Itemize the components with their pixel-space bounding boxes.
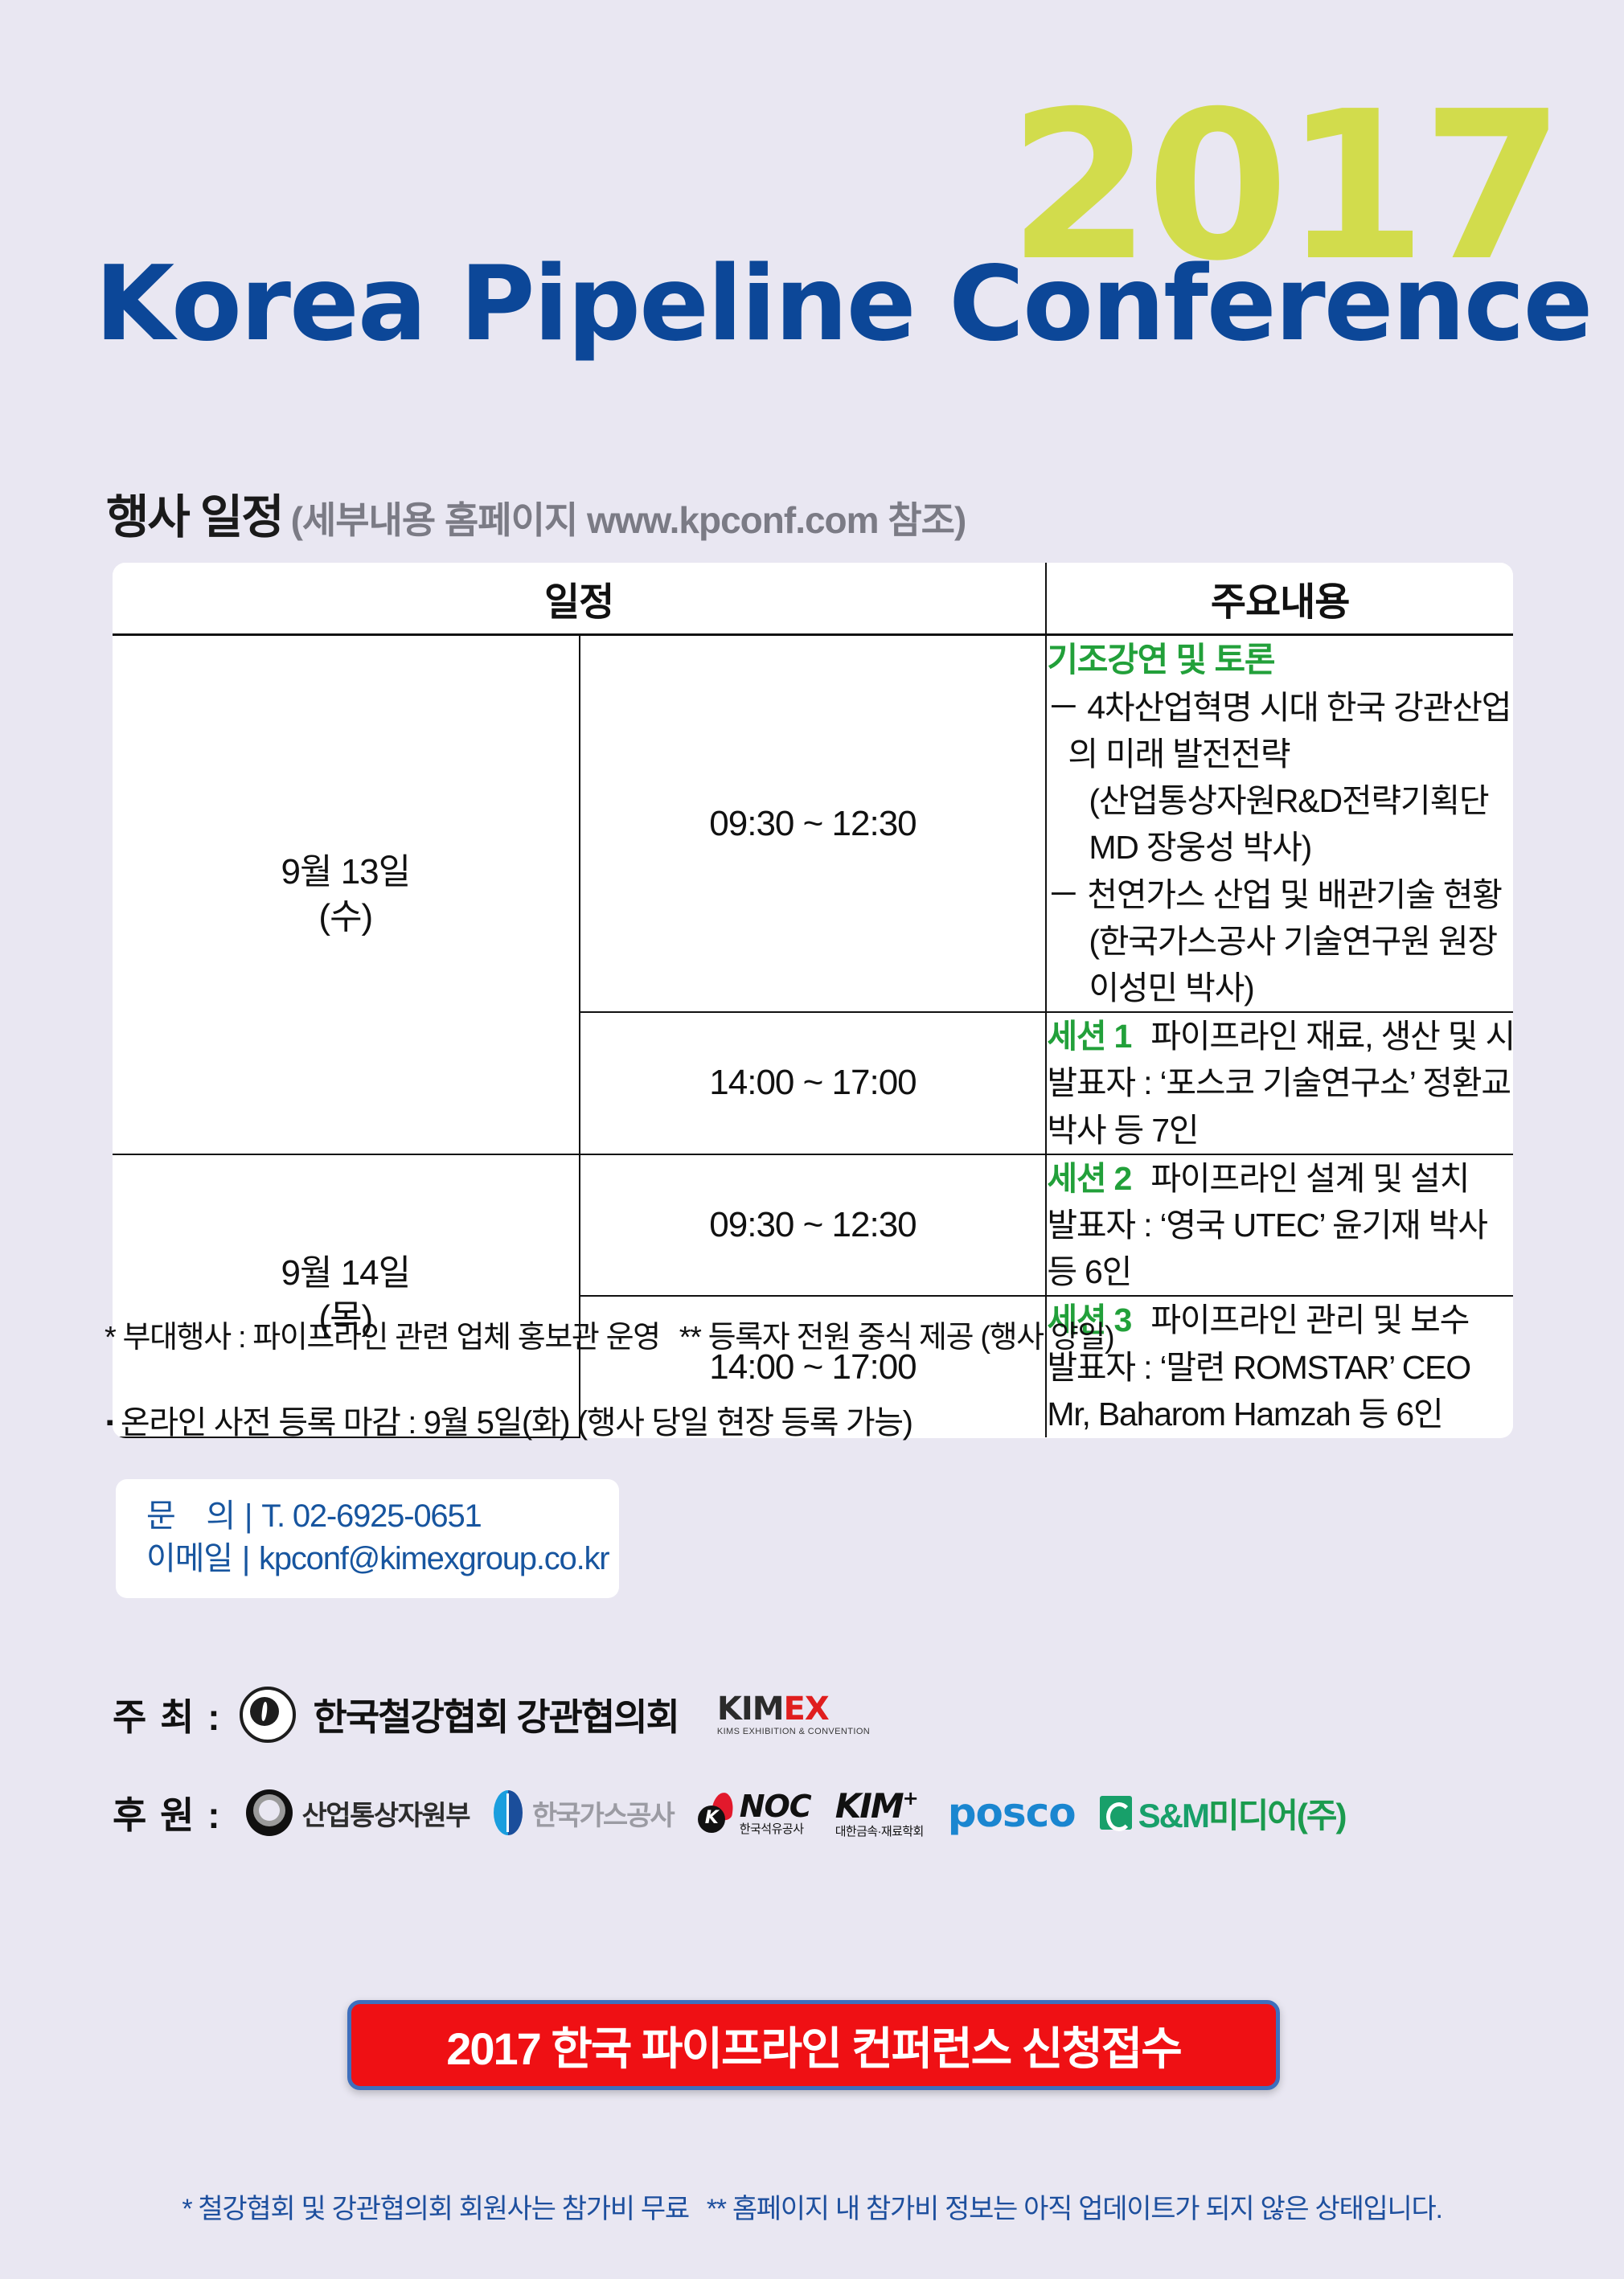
keynote-item-2-speaker: (한국가스공사 기술연구원 원장 이성민 박사)	[1047, 918, 1513, 1011]
contact-box: 문 의|T. 02-6925-0651 이메일|kpconf@kimexgrou…	[116, 1479, 619, 1598]
note-lunch-text: ** 등록자 전원 중식 제공 (행사 양일)	[679, 1321, 1114, 1355]
kosa-seal-icon	[240, 1687, 296, 1743]
kimex-kim: KIM	[717, 1691, 784, 1728]
schedule-table: 일정 주요내용 9월 13일 (수) 09:30 ~ 12:30 기조강연 및 …	[113, 563, 1513, 1438]
sponsor-kogas: 한국가스공사	[494, 1790, 674, 1835]
korea-government-emblem-icon	[246, 1789, 293, 1836]
time-cell: 09:30 ~ 12:30	[580, 1154, 1047, 1297]
keynote-item-1-speaker: (산업통상자원R&D전략기획단 MD 장웅성 박사)	[1047, 777, 1513, 871]
column-header-date: 일정	[113, 563, 1046, 635]
content-cell-session1: 세션 1 파이프라인 재료, 생산 및 시험 발표자 : ‘포스코 기술연구소’…	[1046, 1012, 1513, 1154]
content-cell-session2: 세션 2 파이프라인 설계 및 설치 발표자 : ‘영국 UTEC’ 윤기재 박…	[1046, 1154, 1513, 1297]
schedule-table-panel: 일정 주요내용 9월 13일 (수) 09:30 ~ 12:30 기조강연 및 …	[113, 563, 1513, 1438]
register-button-label: 2017 한국 파이프라인 컨퍼런스 신청접수	[446, 2013, 1181, 2078]
footer-note: * 철강협회 및 강관협의회 회원사는 참가비 무료** 홈페이지 내 참가비 …	[0, 2187, 1624, 2226]
table-row: 9월 13일 (수) 09:30 ~ 12:30 기조강연 및 토론 － 4차산…	[113, 635, 1513, 1013]
session-2-label: 세션 2	[1047, 1160, 1131, 1197]
schedule-heading: 행사 일정(세부내용 홈페이지 www.kpconf.com 참조)	[106, 479, 966, 547]
page-title: Korea Pipeline Conference	[95, 253, 1591, 356]
sponsor-kim-name: KIM	[835, 1786, 903, 1826]
contact-email-value[interactable]: kpconf@kimexgroup.co.kr	[259, 1541, 609, 1576]
sponsor-motie-name: 산업통상자원부	[302, 1793, 470, 1833]
sponsor-knoc-sub: 한국석유공사	[740, 1823, 811, 1835]
session-1-title: 파이프라인 재료, 생산 및 시험	[1150, 1018, 1513, 1055]
posco-logo-icon: posco	[948, 1789, 1076, 1836]
sponsor-label: 후 원 :	[113, 1786, 222, 1839]
sponsor-row: 후 원 : 산업통상자원부 한국가스공사 K NOC 한국석유공사 KIM+ 대…	[113, 1786, 1345, 1839]
time-cell: 14:00 ~ 17:00	[580, 1012, 1047, 1154]
poster-header: 2017 Korea Pipeline Conference	[0, 0, 1624, 450]
contact-email-label: 이메일	[146, 1538, 232, 1580]
contact-email-row: 이메일|kpconf@kimexgroup.co.kr	[146, 1538, 619, 1580]
note-side-events: * 부대행사 : 파이프라인 관련 업체 홍보관 운영** 등록자 전원 중식 …	[105, 1312, 1113, 1356]
content-cell-session3: 세션 3 파이프라인 관리 및 보수 발표자 : ‘말련 ROMSTAR’ CE…	[1046, 1296, 1513, 1437]
register-button[interactable]: 2017 한국 파이프라인 컨퍼런스 신청접수	[347, 2000, 1280, 2090]
contact-phone-row: 문 의|T. 02-6925-0651	[146, 1495, 619, 1538]
session-3-presenter: 발표자 : ‘말련 ROMSTAR’ CEO Mr, Baharom Hamza…	[1047, 1344, 1513, 1437]
sponsor-kim-sub: 대한금속·재료학회	[835, 1826, 924, 1838]
kim-logo-icon: KIM+	[835, 1789, 924, 1823]
bullet-icon: ▪	[106, 1410, 113, 1434]
sponsor-knoc-name: NOC	[740, 1791, 811, 1822]
sm-media-logo-icon	[1100, 1796, 1132, 1830]
kimex-x: X	[805, 1691, 829, 1728]
session-2-line: 세션 2 파이프라인 설계 및 설치	[1047, 1155, 1513, 1202]
time-cell: 09:30 ~ 12:30	[580, 635, 1047, 1013]
session-2-presenter: 발표자 : ‘영국 UTEC’ 윤기재 박사 등 6인	[1047, 1202, 1513, 1295]
note-registration-deadline: ▪온라인 사전 등록 마감 : 9월 5일(화) (행사 당일 현장 등록 가능…	[106, 1396, 912, 1443]
contact-separator: |	[244, 1498, 252, 1534]
note-registration-text: 온라인 사전 등록 마감 : 9월 5일(화) (행사 당일 현장 등록 가능)	[121, 1405, 912, 1441]
knoc-logo-icon: K	[698, 1793, 735, 1833]
session-3-title: 파이프라인 관리 및 보수	[1150, 1301, 1469, 1338]
session-1-presenter: 발표자 : ‘포스코 기술연구소’ 정환교 박사 등 7인	[1047, 1060, 1513, 1153]
date-cell-sep14: 9월 14일 (목)	[113, 1154, 580, 1437]
sponsor-motie: 산업통상자원부	[246, 1789, 470, 1836]
host-name: 한국철강협회 강관협의회	[314, 1688, 679, 1741]
date-text: 9월 13일	[113, 850, 579, 895]
session-2-title: 파이프라인 설계 및 설치	[1150, 1160, 1469, 1197]
weekday-text: (수)	[113, 895, 579, 940]
sponsor-kim: KIM+ 대한금속·재료학회	[835, 1789, 924, 1838]
sponsor-kogas-name: 한국가스공사	[532, 1793, 674, 1833]
sponsor-sm-media: S&M미디어(주)	[1100, 1789, 1346, 1838]
footer-note-part1: * 철강협회 및 강관협의회 회원사는 참가비 무료	[182, 2194, 688, 2224]
schedule-heading-main: 행사 일정	[106, 491, 283, 543]
host-row: 주 최 : 한국철강협회 강관협의회 KIMEX KIMS EXHIBITION…	[113, 1687, 870, 1743]
kimex-logo-icon: KIMEX KIMS EXHIBITION & CONVENTION	[717, 1693, 870, 1736]
sponsor-sm-sub: 미디어(주)	[1208, 1797, 1346, 1834]
date-text: 9월 14일	[113, 1251, 579, 1296]
sponsor-knoc: K NOC 한국석유공사	[698, 1791, 811, 1835]
session-1-label: 세션 1	[1047, 1018, 1131, 1055]
content-cell-keynote: 기조강연 및 토론 － 4차산업혁명 시대 한국 강관산업의 미래 발전전략 (…	[1046, 635, 1513, 1013]
host-label: 주 최 :	[113, 1688, 222, 1741]
schedule-heading-sub: (세부내용 홈페이지 www.kpconf.com 참조)	[291, 499, 966, 541]
session-1-line: 세션 1 파이프라인 재료, 생산 및 시험	[1047, 1013, 1513, 1060]
table-header-row: 일정 주요내용	[113, 563, 1513, 635]
column-header-content: 주요내용	[1046, 563, 1513, 635]
contact-phone-value[interactable]: T. 02-6925-0651	[261, 1498, 481, 1534]
date-cell-sep13: 9월 13일 (수)	[113, 635, 580, 1154]
kimex-subtitle: KIMS EXHIBITION & CONVENTION	[717, 1728, 870, 1736]
sponsor-sm-name: S&M	[1138, 1797, 1208, 1834]
keynote-item-2: － 천연가스 산업 및 배관기술 현황	[1047, 871, 1513, 918]
keynote-title: 기조강연 및 토론	[1047, 636, 1513, 684]
table-row: 9월 14일 (목) 09:30 ~ 12:30 세션 2 파이프라인 설계 및…	[113, 1154, 1513, 1297]
contact-separator: |	[242, 1541, 249, 1576]
session-3-line: 세션 3 파이프라인 관리 및 보수	[1047, 1297, 1513, 1343]
kogas-logo-icon	[494, 1790, 523, 1835]
note-side-events-text: * 부대행사 : 파이프라인 관련 업체 홍보관 운영	[105, 1321, 660, 1355]
kimex-e: E	[784, 1691, 805, 1728]
contact-phone-label: 문 의	[146, 1495, 235, 1538]
keynote-item-1: － 4차산업혁명 시대 한국 강관산업의 미래 발전전략	[1047, 684, 1513, 777]
footer-note-part2: ** 홈페이지 내 참가비 정보는 아직 업데이트가 되지 않은 상태입니다.	[707, 2194, 1442, 2224]
